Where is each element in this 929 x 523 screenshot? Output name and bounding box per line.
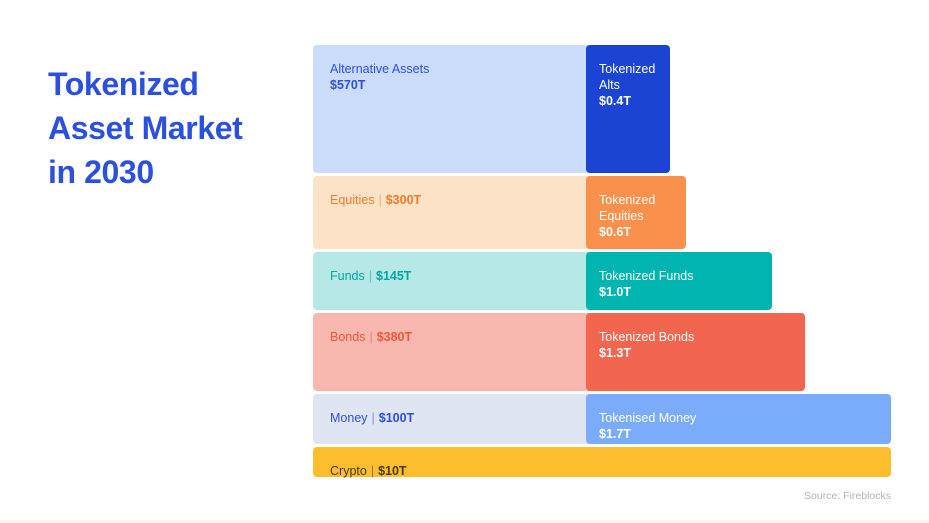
base-label-separator-bonds: | xyxy=(365,330,376,344)
tokenized-value-funds: $1.0T xyxy=(599,284,883,300)
tokenized-market-chart: Alternative Assets$570TTokenizedAlts$0.4… xyxy=(313,45,891,477)
chart-row-alternative-assets: Alternative Assets$570TTokenizedAlts$0.4… xyxy=(313,45,891,173)
tokenized-name-line1-alternative-assets: Tokenized xyxy=(599,61,883,77)
base-label-name-equities: Equities xyxy=(330,193,374,207)
infographic-slide: Tokenized Asset Market in 2030 Alternati… xyxy=(0,0,929,523)
tokenized-name-bonds: Tokenized Bonds xyxy=(599,329,883,345)
title-line-3: in 2030 xyxy=(48,150,303,194)
tokenized-value-equities: $0.6T xyxy=(599,224,883,240)
base-label-name-crypto: Crypto xyxy=(330,464,367,478)
base-label-name-money: Money xyxy=(330,411,368,425)
title-line-2: Asset Market xyxy=(48,106,303,150)
chart-row-crypto: Crypto|$10T xyxy=(313,447,891,477)
tokenized-value-money: $1.7T xyxy=(599,426,883,442)
tokenized-name-line2-equities: Equities xyxy=(599,208,883,224)
tokenized-name-funds: Tokenized Funds xyxy=(599,268,883,284)
chart-row-equities: Equities|$300TTokenizedEquities$0.6T xyxy=(313,176,891,249)
base-label-separator-crypto: | xyxy=(367,464,378,478)
tokenized-name-money: Tokenised Money xyxy=(599,410,883,426)
tokenized-label-equities: TokenizedEquities$0.6T xyxy=(599,192,883,240)
title-line-1: Tokenized xyxy=(48,62,303,106)
base-label-value-crypto: $10T xyxy=(378,464,407,478)
chart-row-bonds: Bonds|$380TTokenized Bonds$1.3T xyxy=(313,313,891,391)
tokenized-label-alternative-assets: TokenizedAlts$0.4T xyxy=(599,61,883,109)
base-label-name-alternative-assets: Alternative Assets xyxy=(330,61,429,77)
tokenized-name-line1-equities: Tokenized xyxy=(599,192,883,208)
tokenized-label-money: Tokenised Money$1.7T xyxy=(599,410,883,442)
chart-row-funds: Funds|$145TTokenized Funds$1.0T xyxy=(313,252,891,310)
base-label-name-bonds: Bonds xyxy=(330,330,365,344)
base-label-bonds: Bonds|$380T xyxy=(330,329,412,345)
base-label-separator-equities: | xyxy=(374,193,385,207)
chart-row-money: Money|$100TTokenised Money$1.7T xyxy=(313,394,891,444)
base-label-value-bonds: $380T xyxy=(377,330,412,344)
base-label-value-funds: $145T xyxy=(376,269,411,283)
base-label-funds: Funds|$145T xyxy=(330,268,411,284)
base-label-separator-money: | xyxy=(368,411,379,425)
base-label-crypto: Crypto|$10T xyxy=(330,463,407,479)
page-title: Tokenized Asset Market in 2030 xyxy=(48,62,303,194)
base-label-separator-funds: | xyxy=(365,269,376,283)
base-label-value-alternative-assets: $570T xyxy=(330,77,429,93)
tokenized-value-bonds: $1.3T xyxy=(599,345,883,361)
base-label-value-equities: $300T xyxy=(386,193,421,207)
tokenized-label-funds: Tokenized Funds$1.0T xyxy=(599,268,883,300)
base-label-money: Money|$100T xyxy=(330,410,414,426)
tokenized-value-alternative-assets: $0.4T xyxy=(599,93,883,109)
base-label-name-funds: Funds xyxy=(330,269,365,283)
base-label-value-money: $100T xyxy=(379,411,414,425)
source-attribution: Source: Fireblocks xyxy=(804,490,891,502)
base-label-equities: Equities|$300T xyxy=(330,192,421,208)
base-label-alternative-assets: Alternative Assets$570T xyxy=(330,61,429,93)
tokenized-label-bonds: Tokenized Bonds$1.3T xyxy=(599,329,883,361)
tokenized-name-line2-alternative-assets: Alts xyxy=(599,77,883,93)
